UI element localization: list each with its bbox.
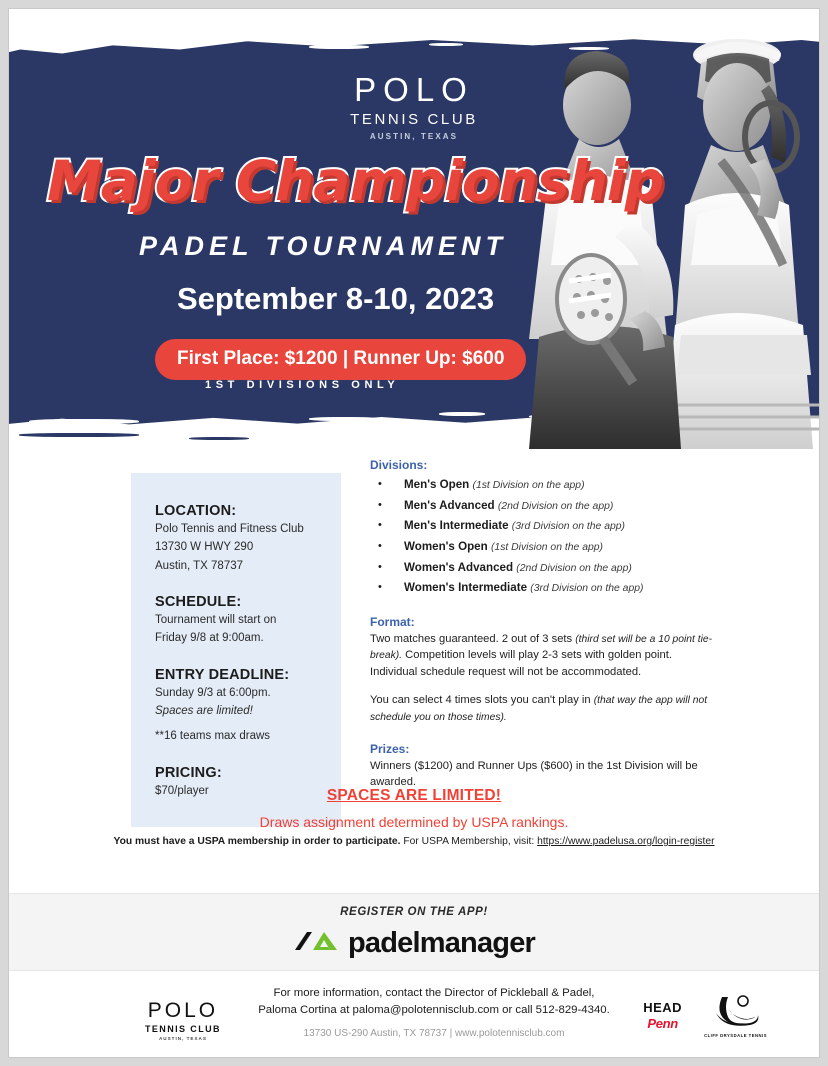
- penn-wordmark: Penn: [643, 1016, 682, 1031]
- format-p1-part-a: Two matches guaranteed. 2 out of 3 sets: [370, 633, 575, 645]
- format-heading: Format:: [370, 615, 722, 629]
- uspa-membership-link[interactable]: https://www.padelusa.org/login-register: [537, 836, 714, 847]
- draws-assignment-note: Draws assignment determined by USPA rank…: [9, 814, 819, 830]
- padelmanager-wordmark: padelmanager: [348, 927, 535, 960]
- club-logo-polo: POLO: [9, 73, 819, 108]
- head-penn-logo: HEAD Penn: [643, 1000, 682, 1031]
- register-title: REGISTER ON THE APP!: [9, 906, 819, 918]
- division-note: (3rd Division on the app): [530, 583, 643, 594]
- event-dates: September 8-10, 2023: [177, 281, 494, 317]
- location-line-2: 13730 W HWY 290: [155, 539, 319, 555]
- entry-deadline-line-2: Spaces are limited!: [155, 703, 319, 719]
- format-paragraph-1: Two matches guaranteed. 2 out of 3 sets …: [370, 631, 722, 680]
- footer-club-logo: POLO TENNIS CLUB AUSTIN, TEXAS: [145, 999, 221, 1041]
- details-column: Divisions: Men's Open (1st Division on t…: [370, 458, 722, 790]
- divisions-list: Men's Open (1st Division on the app)Men'…: [370, 475, 722, 599]
- schedule-line-1: Tournament will start on: [155, 612, 319, 628]
- division-name: Men's Intermediate: [404, 519, 509, 532]
- division-note: (1st Division on the app): [491, 542, 603, 553]
- padelmanager-logo[interactable]: padelmanager: [9, 927, 819, 960]
- flyer-headline: Major Championship: [47, 149, 663, 213]
- division-name: Men's Advanced: [404, 499, 495, 512]
- flyer-subhead: PADEL TOURNAMENT: [139, 231, 507, 262]
- division-item: Men's Intermediate (3rd Division on the …: [370, 516, 722, 537]
- footer-logo-city: AUSTIN, TEXAS: [145, 1036, 221, 1041]
- prizes-heading: Prizes:: [370, 742, 722, 756]
- spaces-limited-block: SPACES ARE LIMITED! Draws assignment det…: [9, 787, 819, 830]
- division-name: Women's Advanced: [404, 561, 513, 574]
- register-band: REGISTER ON THE APP! padelmanager: [9, 893, 819, 971]
- uspa-bold-part: You must have a USPA membership in order…: [113, 836, 400, 847]
- division-note: (2nd Division on the app): [498, 501, 614, 512]
- head-wordmark: HEAD: [643, 1000, 682, 1015]
- division-note: (2nd Division on the app): [516, 563, 632, 574]
- uspa-membership-line: You must have a USPA membership in order…: [9, 836, 819, 847]
- location-heading: LOCATION:: [155, 503, 319, 519]
- footer-logo-tennis-club: TENNIS CLUB: [145, 1024, 221, 1034]
- entry-deadline-heading: ENTRY DEADLINE:: [155, 667, 319, 683]
- format-p2-part-a: You can select 4 times slots you can't p…: [370, 694, 594, 706]
- cliff-drysdale-wordmark: CLIFF DRYSDALE TENNIS: [704, 1033, 767, 1038]
- footer-contact-line-1: For more information, contact the Direct…: [239, 985, 629, 1002]
- location-line-1: Polo Tennis and Fitness Club: [155, 521, 319, 537]
- pricing-heading: PRICING:: [155, 765, 319, 781]
- footer-contact-block: For more information, contact the Direct…: [239, 985, 629, 1039]
- location-line-3: Austin, TX 78737: [155, 558, 319, 574]
- format-p1-part-b: Competition levels will play 2-3 sets wi…: [370, 649, 672, 678]
- divisions-heading: Divisions:: [370, 458, 722, 472]
- division-item: Women's Open (1st Division on the app): [370, 537, 722, 558]
- club-logo-tennis-club: TENNIS CLUB: [9, 111, 819, 128]
- cliff-drysdale-logo: CLIFF DRYSDALE TENNIS: [704, 993, 767, 1038]
- uspa-rest: For USPA Membership, visit:: [401, 836, 538, 847]
- flyer-footer: POLO TENNIS CLUB AUSTIN, TEXAS For more …: [9, 971, 819, 1058]
- flyer-page: POLO TENNIS CLUB AUSTIN, TEXAS: [8, 8, 820, 1058]
- footer-address-line: 13730 US-290 Austin, TX 78737 | www.polo…: [239, 1028, 629, 1039]
- sponsor-logos: HEAD Penn CLIFF DRYSDALE TENNIS: [643, 993, 767, 1038]
- cliff-drysdale-mark-icon: [712, 1014, 760, 1031]
- info-box: LOCATION: Polo Tennis and Fitness Club 1…: [131, 473, 341, 827]
- division-name: Women's Open: [404, 540, 488, 553]
- club-logo-hero: POLO TENNIS CLUB AUSTIN, TEXAS: [9, 73, 819, 141]
- division-item: Men's Open (1st Division on the app): [370, 475, 722, 496]
- club-logo-city: AUSTIN, TEXAS: [9, 132, 819, 141]
- division-item: Women's Advanced (2nd Division on the ap…: [370, 558, 722, 579]
- division-name: Women's Intermediate: [404, 581, 527, 594]
- divisions-only-note: 1ST DIVISIONS ONLY: [205, 379, 399, 391]
- schedule-line-2: Friday 9/8 at 9:00am.: [155, 630, 319, 646]
- footer-contact-line-2: Paloma Cortina at paloma@polotennisclub.…: [239, 1002, 629, 1019]
- division-note: (3rd Division on the app): [512, 521, 625, 532]
- schedule-heading: SCHEDULE:: [155, 594, 319, 610]
- entry-deadline-line-1: Sunday 9/3 at 6:00pm.: [155, 685, 319, 701]
- division-item: Women's Intermediate (3rd Division on th…: [370, 578, 722, 599]
- division-note: (1st Division on the app): [472, 480, 584, 491]
- entry-deadline-note: **16 teams max draws: [155, 728, 319, 744]
- division-name: Men's Open: [404, 478, 469, 491]
- division-item: Men's Advanced (2nd Division on the app): [370, 496, 722, 517]
- padelmanager-mark-icon: [293, 928, 339, 959]
- hero-banner: POLO TENNIS CLUB AUSTIN, TEXAS: [9, 9, 819, 449]
- format-paragraph-2: You can select 4 times slots you can't p…: [370, 692, 722, 725]
- spaces-limited-headline: SPACES ARE LIMITED!: [9, 787, 819, 805]
- prize-pill-badge: First Place: $1200 | Runner Up: $600: [155, 339, 526, 380]
- prizes-text: Winners ($1200) and Runner Ups ($600) in…: [370, 758, 722, 790]
- footer-logo-polo: POLO: [145, 999, 221, 1023]
